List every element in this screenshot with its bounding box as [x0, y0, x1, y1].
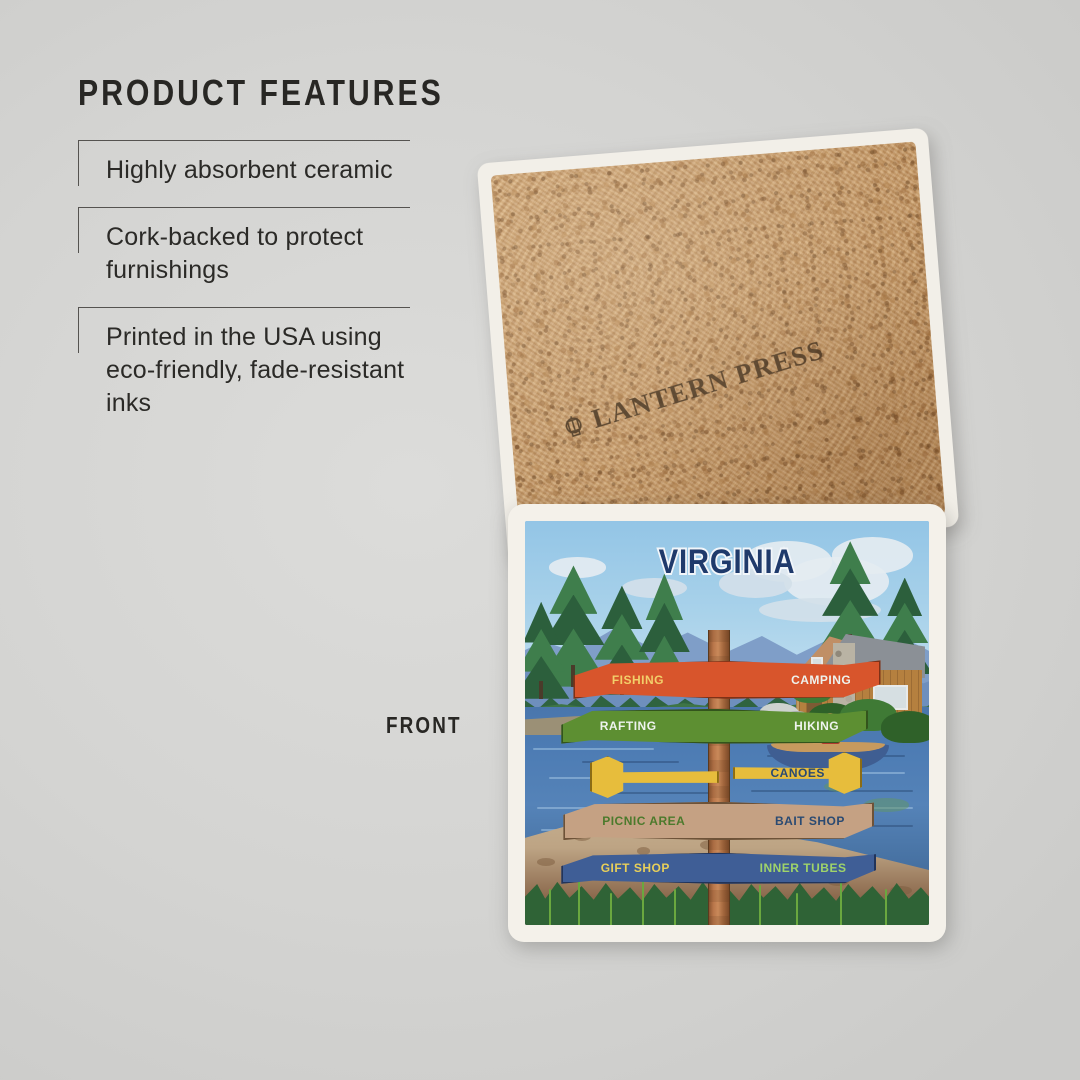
- feature-text: Cork-backed to protect furnishings: [106, 221, 438, 287]
- feature-text: Highly absorbent ceramic: [106, 154, 438, 187]
- sign-picnic-bait: PICNIC AREA BAIT SHOP: [563, 802, 874, 840]
- lantern-icon: [560, 411, 588, 440]
- cork-surface: LANTERN PRESS: [491, 142, 946, 549]
- feature-divider-tick: [78, 207, 79, 253]
- feature-item: Cork-backed to protect furnishings: [78, 207, 438, 307]
- sign-label-inner-tubes: INNER TUBES: [760, 861, 847, 875]
- sign-label-bait-shop: BAIT SHOP: [775, 814, 845, 828]
- pine-tree: [525, 602, 569, 699]
- sign-fishing-camping: FISHING CAMPING: [573, 660, 880, 698]
- brand-text: LANTERN PRESS: [588, 334, 827, 434]
- lantern-press-brand: LANTERN PRESS: [559, 326, 855, 444]
- sign-rafting-hiking: RAFTING HIKING: [561, 709, 868, 744]
- features-title: PRODUCT FEATURES: [78, 72, 380, 114]
- feature-divider-rule: [78, 207, 410, 208]
- feature-text: Printed in the USA using eco-friendly, f…: [106, 321, 438, 420]
- sign-label-picnic-area: PICNIC AREA: [602, 814, 685, 828]
- coaster-back: LANTERN PRESS: [477, 128, 960, 563]
- sign-label-rafting: RAFTING: [600, 719, 657, 733]
- artwork-title: VIRGINIA: [553, 543, 900, 582]
- coaster-front: VIRGINIA FISHING CAMPING RAFTING HIKING …: [508, 504, 946, 942]
- product-features-panel: PRODUCT FEATURES Highly absorbent cerami…: [78, 72, 438, 440]
- sign-label-camping: CAMPING: [791, 673, 851, 687]
- feature-item: Printed in the USA using eco-friendly, f…: [78, 307, 438, 440]
- sign-label-fishing: FISHING: [612, 673, 664, 687]
- feature-divider-rule: [78, 140, 410, 141]
- sign-label-hiking: HIKING: [794, 719, 839, 733]
- coaster-artwork: VIRGINIA FISHING CAMPING RAFTING HIKING …: [525, 521, 929, 925]
- feature-divider-tick: [78, 140, 79, 186]
- feature-item: Highly absorbent ceramic: [78, 140, 438, 207]
- feature-divider-rule: [78, 307, 410, 308]
- sign-label-canoes: CANOES: [771, 766, 825, 780]
- feature-divider-tick: [78, 307, 79, 353]
- front-label: FRONT: [386, 712, 462, 739]
- sign-gift-innertubes: GIFT SHOP INNER TUBES: [561, 852, 876, 884]
- sign-label-gift-shop: GIFT SHOP: [601, 861, 670, 875]
